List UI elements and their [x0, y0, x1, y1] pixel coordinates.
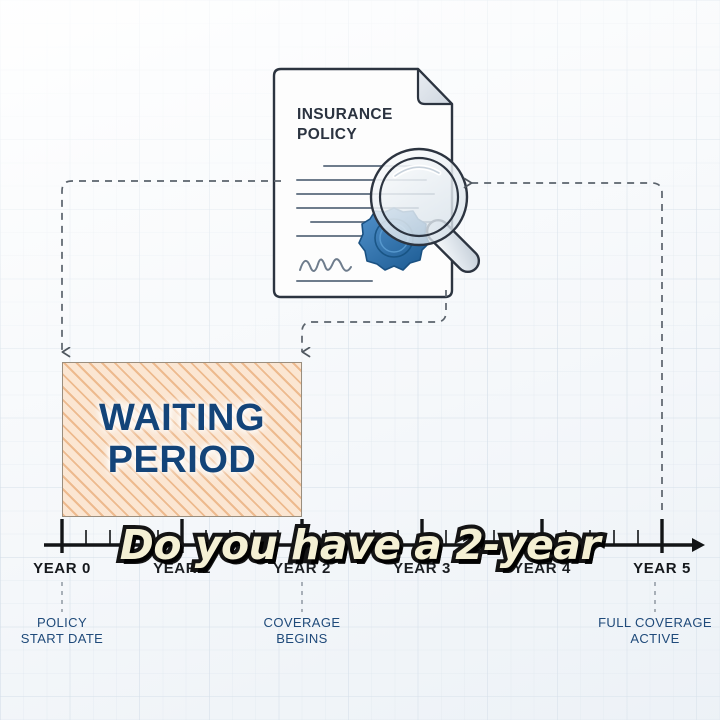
- caption-leader-lines: [62, 582, 655, 612]
- caption-coverage-begins-line2: BEGINS: [264, 631, 341, 647]
- caption-policy-start-date: POLICY START DATE: [21, 615, 104, 648]
- infographic-canvas: INSURANCE POLICY: [0, 0, 720, 720]
- tick-label-year-4: YEAR 4: [513, 560, 571, 577]
- caption-policy-start-date-line2: START DATE: [21, 631, 104, 647]
- tick-label-year-2: YEAR 2: [273, 560, 331, 577]
- caption-coverage-begins: COVERAGE BEGINS: [264, 615, 341, 648]
- caption-full-coverage-active-line2: ACTIVE: [598, 631, 712, 647]
- timeline-axis: [0, 0, 720, 720]
- caption-policy-start-date-line1: POLICY: [21, 615, 104, 631]
- tick-label-year-0: YEAR 0: [33, 560, 91, 577]
- caption-full-coverage-active: FULL COVERAGE ACTIVE: [598, 615, 712, 648]
- tick-label-year-5: YEAR 5: [633, 560, 691, 577]
- caption-full-coverage-active-line1: FULL COVERAGE: [598, 615, 712, 631]
- tick-label-year-3: YEAR 3: [393, 560, 451, 577]
- caption-coverage-begins-line1: COVERAGE: [264, 615, 341, 631]
- axis-major-ticks: [62, 519, 662, 553]
- tick-label-year-1: YEAR 1: [153, 560, 211, 577]
- axis-minor-ticks: [86, 530, 638, 545]
